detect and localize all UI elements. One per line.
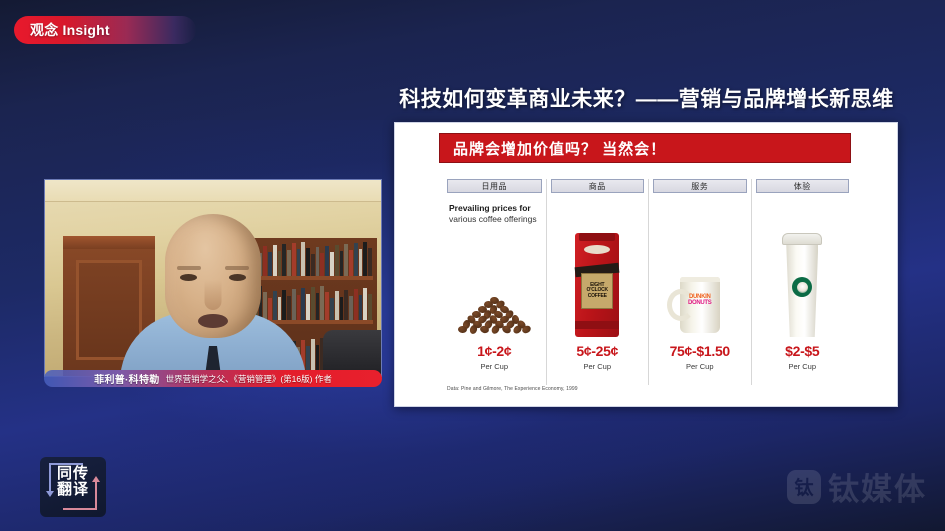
bag-top xyxy=(579,233,615,241)
price-unit: Per Cup xyxy=(547,362,649,371)
speaker-name-bar: 菲利普·科特勒 世界营销学之父、《营销管理》(第16版) 作者 xyxy=(44,370,382,387)
book-spine xyxy=(273,291,277,320)
book-spine xyxy=(282,244,286,276)
brand-line-3: COFFEE xyxy=(588,294,607,299)
column-experience: 体验 $2-$5 Per Cup xyxy=(751,179,854,385)
book-spine xyxy=(320,253,324,276)
book-spine xyxy=(335,245,339,276)
speaker-nose xyxy=(205,280,222,310)
book-spine xyxy=(325,246,329,276)
book-spine xyxy=(330,252,334,276)
source-note: Data: Pine and Gilmore, The Experience E… xyxy=(447,386,578,392)
channel-logo: 同传 翻译 xyxy=(40,457,106,517)
book-spine xyxy=(273,245,277,276)
book-spine xyxy=(311,339,315,370)
dunkin-mug-icon: DUNKIN DONUTS xyxy=(680,277,720,333)
watermark-text: 钛媒体 xyxy=(828,464,927,509)
column-header-label: 日用品 xyxy=(482,181,508,192)
product-art-beans xyxy=(443,225,546,337)
mug-brand-label: DUNKIN DONUTS xyxy=(684,292,716,308)
book-spine xyxy=(335,291,339,320)
product-art-coffee-bag: EIGHT O'CLOCK COFFEE xyxy=(547,225,649,337)
price-label: 5¢-25¢ xyxy=(547,343,649,359)
column-header-label: 服务 xyxy=(691,181,708,192)
insight-badge-label: 观念 Insight xyxy=(30,20,110,40)
book-spine xyxy=(316,247,320,276)
book-spine xyxy=(349,296,353,320)
price-label: 75¢-$1.50 xyxy=(649,343,751,359)
book-spine xyxy=(297,249,301,276)
speaker-name: 菲利普·科特勒 xyxy=(94,371,159,386)
book-spine xyxy=(287,250,291,276)
coffee-beans-icon xyxy=(458,295,530,335)
speaker-brow-left xyxy=(177,266,201,270)
video-feed-panel[interactable] xyxy=(44,179,382,377)
book-spine xyxy=(330,298,334,320)
book-spine xyxy=(263,292,267,320)
mug-rim xyxy=(680,277,720,282)
book-spine xyxy=(297,295,301,320)
book-spine xyxy=(354,289,358,320)
price-unit: Per Cup xyxy=(649,362,751,371)
book-spine xyxy=(282,290,286,320)
column-body: DUNKIN DONUTS 75¢-$1.50 Per Cup xyxy=(649,197,751,385)
watermark-logo-icon: 钛 xyxy=(787,470,821,504)
frame-bar-bottom xyxy=(63,508,97,510)
coffee-bag-icon: EIGHT O'CLOCK COFFEE xyxy=(575,233,619,337)
column-header-label: 商品 xyxy=(589,181,606,192)
book-spine xyxy=(363,288,367,320)
logo-text-line-2: 翻译 xyxy=(40,482,106,498)
product-art-starbucks-cup xyxy=(752,225,854,337)
column-header: 商品 xyxy=(551,179,645,193)
book-spine xyxy=(311,254,315,276)
coffee-bean xyxy=(458,326,467,333)
book-spine xyxy=(368,294,372,320)
book-spine xyxy=(306,294,310,320)
speaker-head xyxy=(165,214,261,338)
column-body: $2-$5 Per Cup xyxy=(752,197,854,385)
slide-banner-text: 品牌会增加价值吗？ 当然会！ xyxy=(453,138,666,159)
book-spine xyxy=(354,243,358,276)
column-header: 服务 xyxy=(653,179,747,193)
book-spine xyxy=(359,249,363,276)
column-goods: 商品 EIGHT O'CLOCK COFFEE xyxy=(546,179,649,385)
bag-brand-label: EIGHT O'CLOCK COFFEE xyxy=(581,273,613,309)
bag-seal xyxy=(584,245,610,254)
speaker-brow-right xyxy=(225,266,249,270)
price-label: 1¢-2¢ xyxy=(443,343,546,359)
price-label: $2-$5 xyxy=(752,343,854,359)
book-spine xyxy=(363,242,367,276)
book-spine xyxy=(349,250,353,276)
logo-text: 同传 翻译 xyxy=(40,466,106,498)
book-spine xyxy=(301,242,305,276)
speaker-mouth xyxy=(198,314,228,328)
product-art-mug: DUNKIN DONUTS xyxy=(649,225,751,337)
book-spine xyxy=(268,252,272,276)
book-spine xyxy=(368,248,372,276)
watermark: 钛 钛媒体 xyxy=(787,464,927,509)
bag-bottom xyxy=(575,321,619,329)
book-spine xyxy=(268,298,272,320)
insight-badge: 观念 Insight xyxy=(14,16,196,44)
book-spine xyxy=(311,287,315,320)
column-header: 体验 xyxy=(756,179,850,193)
brand-line-2: DONUTS xyxy=(688,300,712,306)
page-title: 科技如何变革商业未来？——营销与品牌增长新思维 xyxy=(394,83,899,113)
column-service: 服务 DUNKIN DONUTS 75¢-$1.50 Per Cup xyxy=(648,179,751,385)
book-spine xyxy=(278,251,282,276)
column-commodity: 日用品 Prevailing prices for various coffee… xyxy=(443,179,546,385)
speaker-title: 世界营销学之父、《营销管理》(第16版) 作者 xyxy=(166,373,332,385)
book-spine xyxy=(359,295,363,320)
book-spine xyxy=(278,297,282,320)
slide-banner: 品牌会增加价值吗？ 当然会！ xyxy=(439,133,851,163)
book-spine xyxy=(292,289,296,320)
book-spine xyxy=(325,292,329,320)
book-spine xyxy=(301,288,305,320)
book-spine xyxy=(306,346,310,370)
speaker-eye-left xyxy=(180,274,197,281)
book-spine xyxy=(316,345,320,370)
book-spine xyxy=(340,251,344,276)
book-spine xyxy=(292,243,296,276)
presentation-slide: 品牌会增加价值吗？ 当然会！ 日用品 Prevailing prices for… xyxy=(394,122,898,407)
price-unit: Per Cup xyxy=(752,362,854,371)
price-unit: Per Cup xyxy=(443,362,546,371)
book-spine xyxy=(340,297,344,320)
caption-line-1: Prevailing prices for xyxy=(449,203,539,214)
column-header-label: 体验 xyxy=(794,181,811,192)
prevailing-prices-caption: Prevailing prices for various coffee off… xyxy=(449,203,539,226)
screen-root: 观念 Insight 菲利普·科特勒 世界营销学之父、《营销管理》(第 xyxy=(0,0,945,531)
book-spine xyxy=(320,286,324,320)
column-header: 日用品 xyxy=(447,179,542,193)
price-ladder-columns: 日用品 Prevailing prices for various coffee… xyxy=(443,179,853,385)
logo-text-line-1: 同传 xyxy=(40,466,106,482)
book-spine xyxy=(316,293,320,320)
column-body: EIGHT O'CLOCK COFFEE 5¢-25¢ Per Cup xyxy=(547,197,649,385)
starbucks-siren-icon xyxy=(792,277,812,297)
book-spine xyxy=(344,290,348,320)
book-spine xyxy=(287,296,291,320)
book-spine xyxy=(263,246,267,276)
cup-lid xyxy=(782,233,822,245)
column-body: Prevailing prices for various coffee off… xyxy=(443,197,546,385)
book-spine xyxy=(344,244,348,276)
bookshelf-row xyxy=(249,284,373,324)
bookshelf-row xyxy=(249,240,373,280)
book-spine xyxy=(306,248,310,276)
speaker-eye-right xyxy=(229,274,246,281)
starbucks-cup-icon xyxy=(784,233,820,337)
video-ceiling xyxy=(45,180,381,202)
